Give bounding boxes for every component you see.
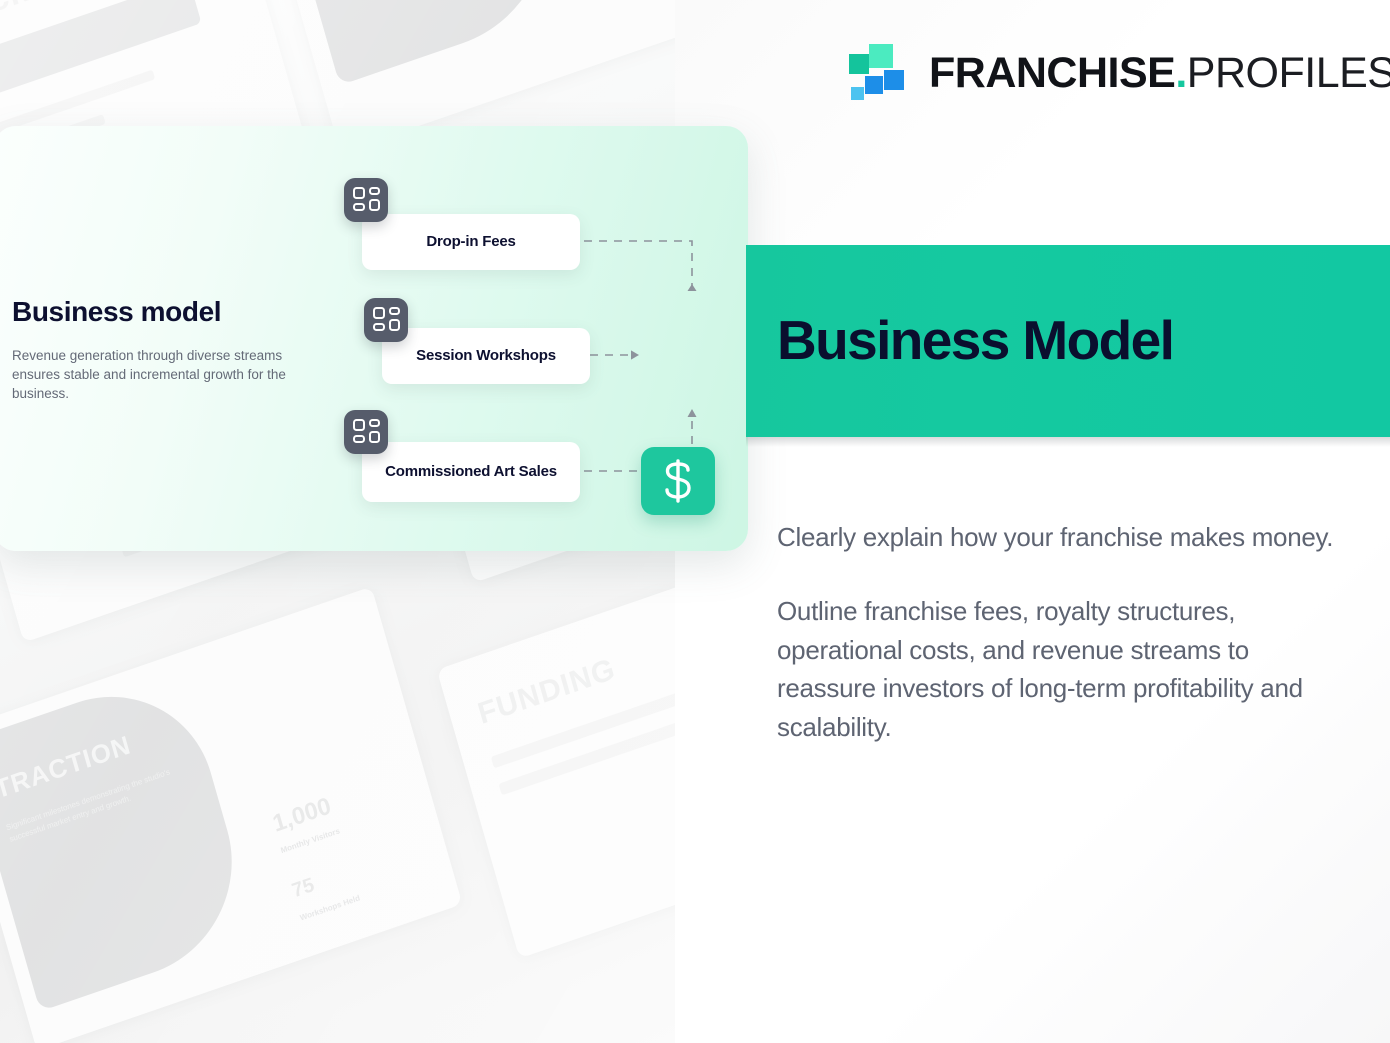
logo-square-mint-large [869, 44, 893, 68]
grid-dashboard-icon [344, 178, 388, 222]
revenue-node-label: Commissioned Art Sales [371, 463, 571, 481]
logo-word-profiles: PROFILES [1187, 49, 1390, 97]
body-paragraph-2: Outline franchise fees, royalty structur… [777, 592, 1352, 746]
revenue-node-label: Drop-in Fees [412, 233, 529, 251]
logo-wordmark: FRANCHISE.PROFILES [929, 52, 1390, 95]
body-copy: Clearly explain how your franchise makes… [777, 518, 1352, 746]
body-paragraph-1: Clearly explain how your franchise makes… [777, 518, 1352, 556]
mosaic-stat-value: 75 [290, 874, 317, 903]
logo-square-blue-right [884, 70, 904, 90]
logo-square-skyblue-small [851, 87, 864, 100]
card-text-block: Business model Revenue generation throug… [12, 296, 322, 403]
mosaic-slide-funding: FUNDING [437, 530, 675, 959]
grid-dashboard-icon [364, 298, 408, 342]
revenue-node-commissioned-art-sales[interactable]: Commissioned Art Sales [362, 442, 580, 502]
logo-squares-mark [849, 44, 907, 102]
logo-square-blue-mid [865, 76, 883, 94]
grid-dashboard-icon [344, 410, 388, 454]
dollar-sign-icon[interactable] [641, 447, 715, 515]
mosaic-block [271, 0, 576, 85]
revenue-node-label: Session Workshops [402, 347, 570, 365]
card-title: Business model [12, 296, 322, 328]
logo-word-franchise: FRANCHISE [929, 49, 1175, 97]
logo-square-teal [849, 54, 869, 74]
logo-dot: . [1175, 49, 1186, 97]
revenue-node-session-workshops[interactable]: Session Workshops [382, 328, 590, 384]
page-title: Business Model [777, 313, 1173, 368]
franchise-profiles-logo: FRANCHISE.PROFILES [849, 40, 1349, 106]
mosaic-block [0, 667, 258, 1011]
business-model-visual-card: Business model Revenue generation throug… [0, 126, 748, 551]
revenue-node-drop-in-fees[interactable]: Drop-in Fees [362, 214, 580, 270]
banner-drop-shadow [746, 437, 1390, 447]
mosaic-slide-traction: TRACTION Significant milestones demonstr… [0, 586, 462, 1043]
slide-canvas: pitch deck THE PROBLEM Many individuals … [0, 0, 1390, 1043]
card-description: Revenue generation through diverse strea… [12, 346, 322, 403]
